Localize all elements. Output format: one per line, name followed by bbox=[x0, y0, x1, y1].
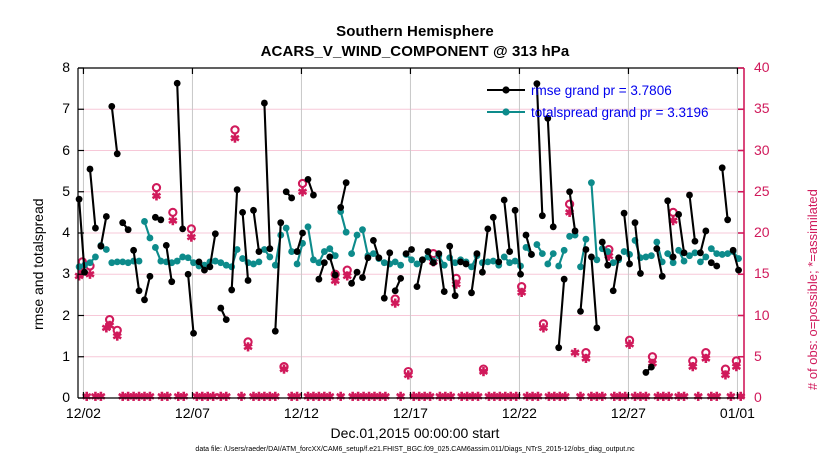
data-point bbox=[190, 330, 197, 337]
data-point bbox=[414, 261, 421, 268]
obs-assimilated-marker bbox=[198, 392, 206, 401]
data-point bbox=[408, 246, 415, 253]
series-segment bbox=[493, 217, 498, 262]
y-tick-label-right: 30 bbox=[754, 142, 784, 158]
data-point bbox=[408, 256, 415, 263]
x-tick-label: 12/27 bbox=[598, 405, 658, 421]
data-point bbox=[523, 232, 530, 239]
data-point bbox=[294, 261, 301, 268]
obs-assimilated-marker bbox=[556, 392, 564, 401]
data-point bbox=[506, 248, 513, 255]
data-point bbox=[97, 243, 104, 250]
series-segment bbox=[275, 223, 280, 331]
obs-assimilated-marker bbox=[174, 392, 182, 401]
data-point bbox=[343, 179, 350, 186]
series-segment bbox=[112, 106, 117, 153]
data-point bbox=[512, 207, 519, 214]
obs-assimilated-marker bbox=[598, 392, 606, 401]
obs-assimilated-marker bbox=[163, 392, 171, 401]
data-point bbox=[555, 344, 562, 351]
obs-assimilated-marker bbox=[309, 392, 317, 401]
obs-assimilated-marker bbox=[260, 392, 268, 401]
data-point bbox=[174, 80, 181, 87]
obs-assimilated-marker bbox=[315, 392, 323, 401]
data-point bbox=[539, 212, 546, 219]
y-tick-label-right: 5 bbox=[754, 348, 784, 364]
obs-assimilated-marker bbox=[463, 392, 471, 401]
data-point bbox=[419, 256, 426, 263]
series-segment bbox=[591, 257, 596, 328]
series-segment bbox=[177, 83, 182, 229]
obs-assimilated-marker bbox=[577, 392, 585, 401]
data-point bbox=[359, 274, 366, 281]
obs-assimilated-marker bbox=[360, 392, 368, 401]
obs-assimilated-marker bbox=[222, 392, 230, 401]
x-tick-label: 12/07 bbox=[162, 405, 222, 421]
series-segment bbox=[591, 183, 596, 260]
obs-assimilated-marker bbox=[654, 392, 662, 401]
obs-assimilated-marker bbox=[727, 392, 735, 401]
data-point bbox=[577, 308, 584, 315]
obs-assimilated-marker bbox=[141, 392, 149, 401]
x-tick-label: 12/02 bbox=[53, 405, 113, 421]
data-point bbox=[381, 295, 388, 302]
obs-assimilated-marker bbox=[397, 392, 405, 401]
series-rmse bbox=[76, 80, 742, 376]
data-point bbox=[588, 254, 595, 261]
data-point bbox=[326, 254, 333, 261]
data-point bbox=[664, 197, 671, 204]
data-point bbox=[642, 369, 649, 376]
obs-assimilated-marker bbox=[158, 392, 166, 401]
data-point bbox=[719, 164, 726, 171]
data-point bbox=[566, 188, 573, 195]
data-point bbox=[223, 316, 230, 323]
data-point bbox=[604, 262, 611, 269]
obs-assimilated-marker bbox=[587, 392, 595, 401]
obs-assimilated-marker bbox=[616, 392, 624, 401]
data-point bbox=[283, 188, 290, 195]
obs-assimilated-marker bbox=[337, 392, 345, 401]
obs-assimilated-marker bbox=[124, 392, 132, 401]
data-point bbox=[310, 192, 317, 199]
obs-assimilated-marker bbox=[217, 392, 225, 401]
obs-assimilated-marker bbox=[447, 392, 455, 401]
y-tick-label-right: 35 bbox=[754, 100, 784, 116]
data-point bbox=[441, 262, 448, 269]
data-point bbox=[217, 305, 224, 312]
data-point bbox=[136, 287, 143, 294]
obs-assimilated-marker bbox=[707, 392, 715, 401]
data-point bbox=[517, 271, 524, 278]
data-point bbox=[283, 225, 290, 232]
data-point bbox=[561, 276, 568, 283]
data-point bbox=[686, 192, 693, 199]
data-point bbox=[452, 292, 459, 299]
data-point bbox=[588, 179, 595, 186]
data-point bbox=[168, 278, 175, 285]
plot-canvas: rmse grand pr = 3.7806totalspread grand … bbox=[0, 0, 830, 470]
data-point bbox=[228, 287, 235, 294]
data-point bbox=[196, 258, 203, 265]
obs-assimilated-marker bbox=[426, 392, 434, 401]
obs-assimilated-marker bbox=[231, 134, 239, 143]
data-point bbox=[76, 196, 83, 203]
data-point bbox=[577, 263, 584, 270]
y-tick-label-left: 4 bbox=[44, 224, 70, 240]
data-point bbox=[435, 250, 442, 257]
data-point bbox=[348, 250, 355, 257]
data-point bbox=[637, 270, 644, 277]
data-point bbox=[147, 273, 154, 280]
data-point bbox=[321, 259, 328, 266]
data-point bbox=[702, 254, 709, 261]
y-tick-label-right: 0 bbox=[754, 389, 784, 405]
obs-assimilated-marker bbox=[485, 392, 493, 401]
data-point bbox=[277, 219, 284, 226]
series-segment bbox=[635, 223, 640, 274]
data-point bbox=[441, 288, 448, 295]
obs-assimilated-marker bbox=[529, 392, 537, 401]
obs-assimilated-marker bbox=[365, 392, 373, 401]
obs-assimilated-marker bbox=[561, 392, 569, 401]
data-point bbox=[179, 225, 186, 232]
data-point bbox=[136, 258, 143, 265]
y-tick-label-right: 20 bbox=[754, 224, 784, 240]
obs-possible-marker bbox=[231, 126, 238, 133]
data-point bbox=[114, 150, 121, 157]
data-point bbox=[648, 364, 655, 371]
data-point bbox=[141, 218, 148, 225]
obs-assimilated-marker bbox=[496, 392, 504, 401]
obs-assimilated-marker bbox=[665, 392, 673, 401]
data-point bbox=[305, 223, 312, 230]
series-segment bbox=[689, 195, 694, 241]
x-tick-label: 12/12 bbox=[271, 405, 331, 421]
data-point bbox=[266, 245, 273, 252]
y-tick-label-left: 7 bbox=[44, 100, 70, 116]
y-tick-label-left: 8 bbox=[44, 59, 70, 75]
data-point bbox=[354, 269, 361, 276]
y-tick-label-left: 1 bbox=[44, 348, 70, 364]
data-point bbox=[157, 216, 164, 223]
data-point bbox=[730, 247, 737, 254]
obs-assimilated-marker bbox=[288, 392, 296, 401]
y-tick-label-left: 3 bbox=[44, 265, 70, 281]
obs-assimilated-marker bbox=[501, 392, 509, 401]
y-tick-label-left: 5 bbox=[44, 183, 70, 199]
obs-assimilated-marker bbox=[680, 392, 688, 401]
data-point bbox=[702, 228, 709, 235]
obs-assimilated-marker bbox=[238, 392, 246, 401]
data-point bbox=[315, 276, 322, 283]
obs-assimilated-marker bbox=[119, 392, 127, 401]
data-point bbox=[430, 259, 437, 266]
data-point bbox=[593, 324, 600, 331]
data-point bbox=[713, 263, 720, 270]
series-segment bbox=[722, 168, 727, 220]
data-point bbox=[653, 245, 660, 252]
data-point bbox=[501, 254, 508, 261]
data-point bbox=[103, 213, 110, 220]
data-point bbox=[495, 258, 502, 265]
obs-assimilated-marker bbox=[523, 392, 531, 401]
data-point bbox=[583, 236, 590, 243]
data-point bbox=[185, 271, 192, 278]
data-point bbox=[670, 254, 677, 261]
obs-assimilated-marker bbox=[381, 392, 389, 401]
series-obs-assimilated bbox=[75, 134, 745, 401]
obs-assimilated-marker bbox=[571, 348, 579, 357]
data-point bbox=[174, 258, 181, 265]
data-point bbox=[288, 195, 295, 202]
obs-assimilated-marker bbox=[152, 191, 160, 200]
series-segment bbox=[243, 212, 248, 280]
data-point bbox=[152, 244, 159, 251]
series-segment bbox=[308, 227, 313, 260]
obs-assimilated-marker bbox=[266, 392, 274, 401]
obs-assimilated-marker bbox=[91, 392, 99, 401]
obs-assimilated-marker bbox=[187, 233, 195, 242]
series-segment bbox=[537, 84, 542, 216]
x-tick-label: 12/17 bbox=[380, 405, 440, 421]
obs-assimilated-marker bbox=[545, 392, 553, 401]
series-segment bbox=[362, 230, 367, 256]
data-point bbox=[615, 254, 622, 261]
data-point bbox=[250, 207, 257, 214]
obs-assimilated-marker bbox=[534, 392, 542, 401]
obs-assimilated-marker bbox=[97, 392, 105, 401]
data-point bbox=[239, 209, 246, 216]
data-point bbox=[648, 252, 655, 259]
obs-assimilated-marker bbox=[441, 392, 449, 401]
obs-assimilated-marker bbox=[675, 392, 683, 401]
chart-legend: rmse grand pr = 3.7806totalspread grand … bbox=[487, 83, 709, 120]
data-point bbox=[539, 250, 546, 257]
y-tick-label-right: 15 bbox=[754, 265, 784, 281]
data-point bbox=[599, 239, 606, 246]
data-point bbox=[266, 254, 273, 261]
data-point bbox=[332, 272, 339, 279]
obs-assimilated-marker bbox=[271, 392, 279, 401]
obs-possible-marker bbox=[169, 209, 176, 216]
data-point bbox=[550, 223, 557, 230]
data-point bbox=[397, 262, 404, 269]
legend-label: rmse grand pr = 3.7806 bbox=[531, 83, 672, 98]
obs-assimilated-marker bbox=[436, 392, 444, 401]
data-point bbox=[87, 259, 94, 266]
data-point bbox=[272, 328, 279, 335]
series-segment bbox=[548, 118, 553, 226]
data-point bbox=[163, 242, 170, 249]
data-point bbox=[245, 277, 252, 284]
data-point bbox=[92, 225, 99, 232]
data-point bbox=[610, 287, 617, 294]
obs-assimilated-marker bbox=[320, 392, 328, 401]
data-point bbox=[348, 280, 355, 287]
x-tick-label: 01/01 bbox=[707, 405, 767, 421]
obs-assimilated-marker bbox=[209, 392, 217, 401]
obs-assimilated-marker bbox=[507, 392, 515, 401]
data-point bbox=[206, 263, 213, 270]
obs-assimilated-marker bbox=[694, 392, 702, 401]
series-segment bbox=[504, 200, 509, 252]
obs-possible-marker bbox=[153, 184, 160, 191]
data-point bbox=[92, 254, 99, 261]
data-point bbox=[87, 166, 94, 173]
obs-assimilated-marker bbox=[458, 392, 466, 401]
data-point bbox=[659, 273, 666, 280]
obs-assimilated-marker bbox=[146, 392, 154, 401]
obs-assimilated-marker bbox=[713, 392, 721, 401]
data-point bbox=[261, 100, 268, 107]
data-point bbox=[299, 230, 306, 237]
obs-assimilated-marker bbox=[293, 392, 301, 401]
data-point bbox=[724, 216, 731, 223]
data-point bbox=[141, 296, 148, 303]
data-point bbox=[234, 186, 241, 193]
obs-assimilated-marker bbox=[250, 392, 258, 401]
data-point bbox=[626, 261, 633, 268]
data-point bbox=[239, 255, 246, 262]
y-tick-label-left: 6 bbox=[44, 142, 70, 158]
data-point bbox=[681, 249, 688, 256]
data-point bbox=[479, 269, 486, 276]
data-point bbox=[343, 229, 350, 236]
data-point bbox=[653, 239, 660, 246]
series-totalspread bbox=[76, 179, 742, 270]
y-tick-label-left: 2 bbox=[44, 307, 70, 323]
y-tick-label-right: 10 bbox=[754, 307, 784, 323]
data-point bbox=[463, 261, 470, 268]
data-point bbox=[326, 245, 333, 252]
obs-assimilated-marker bbox=[610, 392, 618, 401]
data-point bbox=[424, 248, 431, 255]
obs-assimilated-marker bbox=[204, 392, 212, 401]
series-segment bbox=[101, 217, 106, 247]
y-tick-label-right: 40 bbox=[754, 59, 784, 75]
data-point bbox=[697, 258, 704, 265]
series-segment bbox=[253, 210, 258, 251]
data-point bbox=[370, 237, 377, 244]
data-point bbox=[337, 204, 344, 211]
obs-assimilated-marker bbox=[354, 392, 362, 401]
data-point bbox=[185, 254, 192, 261]
data-point bbox=[550, 250, 557, 257]
data-point bbox=[681, 258, 688, 265]
obs-assimilated-marker bbox=[642, 392, 650, 401]
data-point bbox=[572, 228, 579, 235]
y-tick-label-left: 0 bbox=[44, 389, 70, 405]
obs-assimilated-marker bbox=[169, 216, 177, 225]
data-point bbox=[692, 238, 699, 245]
obs-assimilated-marker bbox=[474, 392, 482, 401]
data-point bbox=[375, 254, 382, 261]
data-point bbox=[632, 219, 639, 226]
series-segment bbox=[264, 103, 269, 249]
data-point bbox=[708, 245, 715, 252]
obs-assimilated-marker bbox=[469, 392, 477, 401]
data-point bbox=[484, 225, 491, 232]
data-point bbox=[583, 246, 590, 253]
obs-assimilated-marker bbox=[636, 392, 644, 401]
obs-assimilated-marker bbox=[326, 392, 334, 401]
data-point bbox=[130, 247, 137, 254]
data-point bbox=[147, 235, 154, 242]
data-point bbox=[533, 241, 540, 248]
obs-assimilated-marker bbox=[371, 392, 379, 401]
obs-assimilated-marker bbox=[490, 392, 498, 401]
obs-assimilated-marker bbox=[376, 392, 384, 401]
series-segment bbox=[286, 228, 291, 252]
data-point bbox=[697, 249, 704, 256]
data-point bbox=[544, 261, 551, 268]
data-point bbox=[621, 210, 628, 217]
series-segment bbox=[559, 279, 564, 347]
data-point bbox=[561, 247, 568, 254]
data-point bbox=[403, 250, 410, 257]
y-tick-label-right: 25 bbox=[754, 183, 784, 199]
obs-assimilated-marker bbox=[349, 392, 357, 401]
series-segment bbox=[144, 276, 149, 300]
series-segment bbox=[134, 250, 139, 290]
obs-assimilated-marker bbox=[130, 392, 138, 401]
data-point bbox=[305, 176, 312, 183]
obs-assimilated-marker bbox=[550, 392, 558, 401]
obs-assimilated-marker bbox=[421, 392, 429, 401]
data-point bbox=[392, 287, 399, 294]
obs-assimilated-marker bbox=[415, 392, 423, 401]
data-point bbox=[675, 211, 682, 218]
data-point bbox=[555, 263, 562, 270]
chart-figure: Southern Hemisphere ACARS_V_WIND_COMPONE… bbox=[0, 0, 830, 470]
data-point bbox=[512, 258, 519, 265]
data-point bbox=[386, 249, 393, 256]
data-point bbox=[354, 232, 361, 239]
legend-marker bbox=[502, 86, 509, 93]
obs-assimilated-marker bbox=[659, 392, 667, 401]
data-point bbox=[108, 103, 115, 110]
obs-assimilated-marker bbox=[255, 392, 263, 401]
series-segment bbox=[341, 183, 346, 208]
legend-label: totalspread grand pr = 3.3196 bbox=[531, 105, 709, 120]
data-point bbox=[490, 214, 497, 221]
data-point bbox=[365, 254, 372, 261]
series-segment bbox=[450, 246, 455, 296]
data-point bbox=[294, 248, 301, 255]
data-point bbox=[474, 250, 481, 257]
obs-assimilated-marker bbox=[631, 392, 639, 401]
obs-assimilated-marker bbox=[593, 392, 601, 401]
data-point bbox=[501, 197, 508, 204]
x-tick-label: 12/22 bbox=[489, 405, 549, 421]
data-point bbox=[212, 230, 219, 237]
obs-assimilated-marker bbox=[135, 392, 143, 401]
obs-assimilated-marker bbox=[193, 392, 201, 401]
data-point bbox=[397, 275, 404, 282]
obs-possible-marker bbox=[188, 225, 195, 232]
data-point bbox=[468, 289, 475, 296]
data-point bbox=[446, 243, 453, 250]
data-point bbox=[359, 226, 366, 233]
obs-assimilated-marker bbox=[180, 392, 188, 401]
series-segment bbox=[90, 169, 95, 228]
data-point bbox=[119, 219, 126, 226]
data-point bbox=[256, 258, 263, 265]
obs-assimilated-marker bbox=[304, 392, 312, 401]
series-segment bbox=[232, 190, 237, 290]
data-point bbox=[256, 248, 263, 255]
